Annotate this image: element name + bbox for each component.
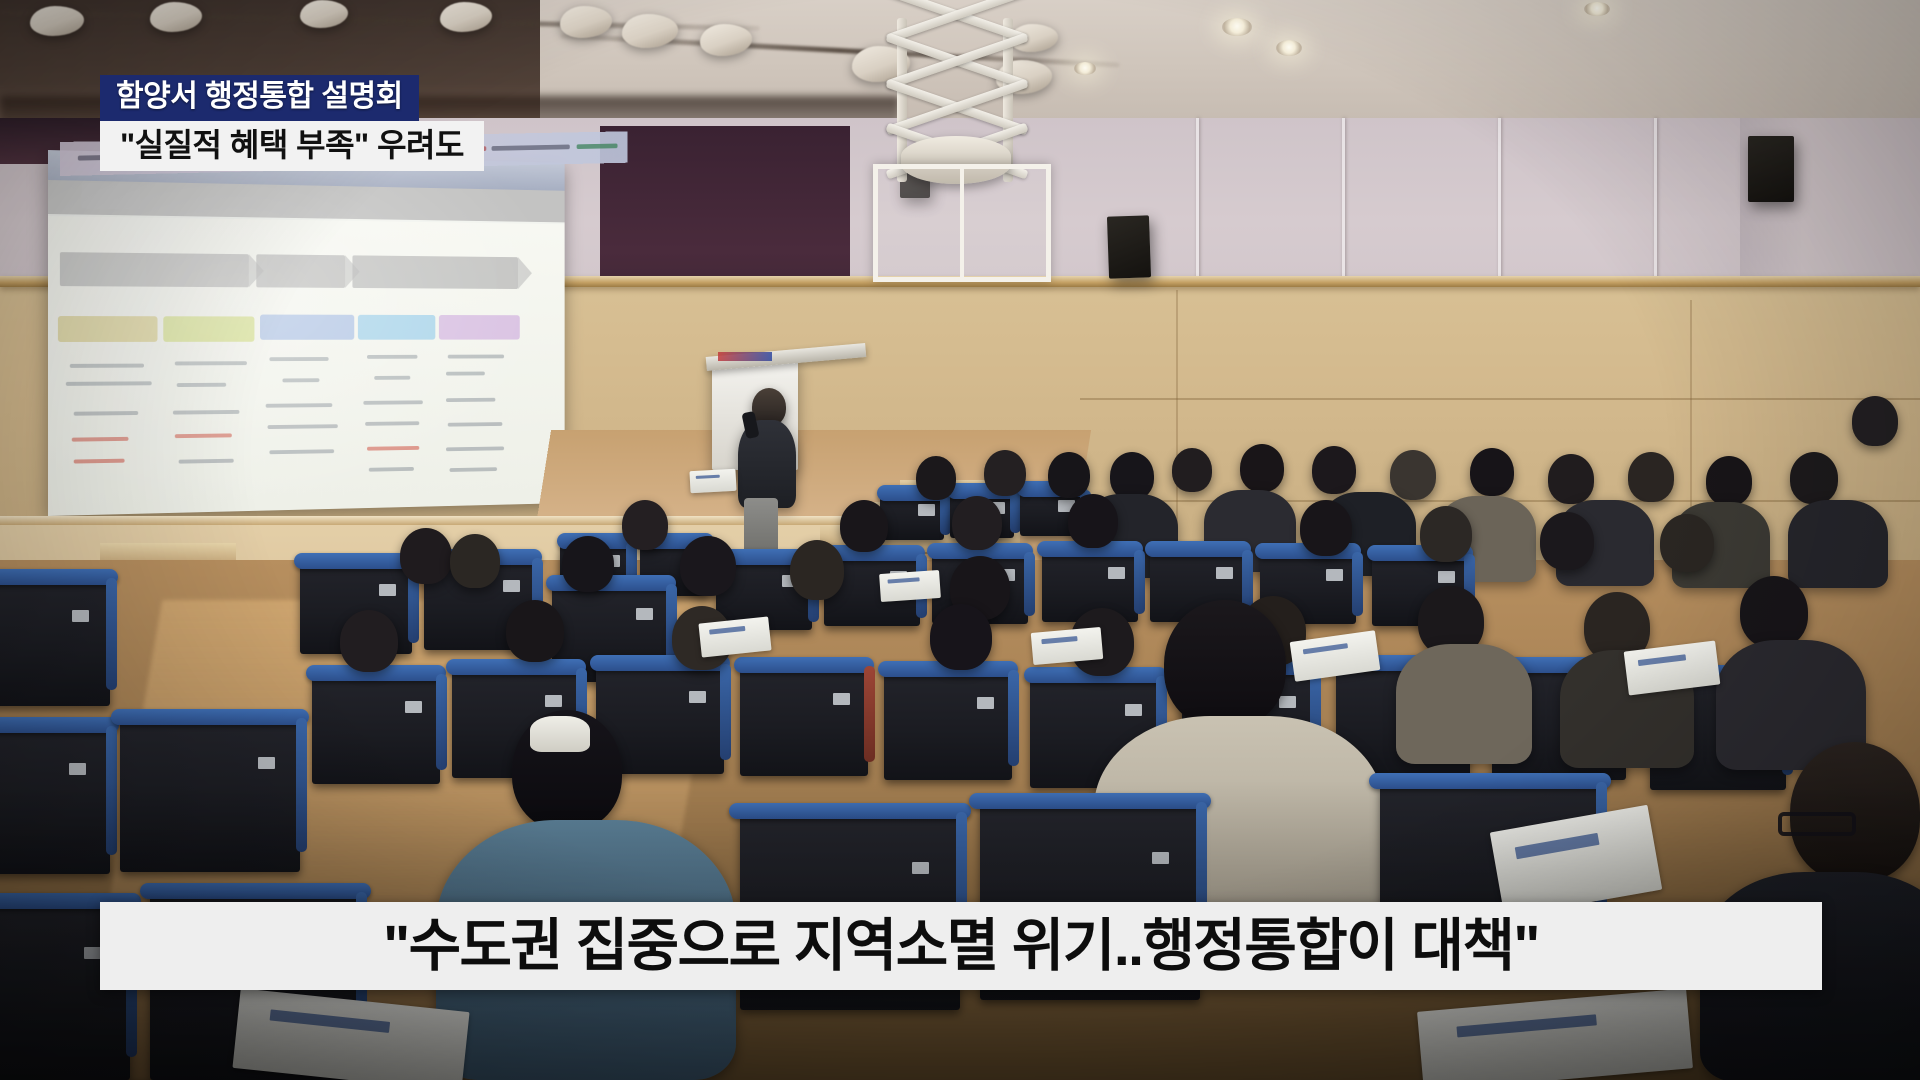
handout [689,469,736,493]
handout [698,616,771,657]
attendee-head [1660,514,1714,572]
attendee-head [506,600,564,662]
attendee-body [1396,644,1532,764]
attendee-head [1110,452,1154,500]
news-bug-headline: 함양서 행정통합 설명회 [100,75,419,121]
attendee-head [984,450,1026,496]
seat [0,576,110,706]
seat [312,672,440,784]
attendee-head [622,500,668,550]
attendee-head [1068,494,1118,548]
attendee-head [1740,576,1808,648]
attendee-head [1312,446,1356,494]
lower-third-text: "수도권 집중으로 지역소멸 위기..행정통합이 대책" [383,918,1539,975]
handout [1031,627,1104,665]
attendee-head [1390,450,1436,500]
seat [0,724,110,874]
attendee-head [450,534,500,588]
attendee-head [790,540,844,600]
attendee-head [1790,452,1838,504]
attendee-head [340,610,398,672]
attendee-head [680,536,736,596]
attendee-head [930,604,992,670]
hair-clip [530,716,590,752]
news-bug-subline: "실질적 혜택 부족" 우려도 [100,121,484,171]
attendee-head [1852,396,1898,446]
seat [740,664,868,776]
attendee-head [1240,444,1284,492]
attendee-body [1788,500,1888,588]
attendee-head [400,528,452,584]
attendee-head [916,456,956,500]
attendee-head [1628,452,1674,502]
attendee-head [952,496,1002,550]
attendee-head [1172,448,1212,492]
top-news-bug: 함양서 행정통합 설명회 "실질적 혜택 부족" 우려도 [100,75,484,171]
attendee-head [1540,512,1594,570]
seat [884,668,1012,780]
attendee-head [1706,456,1752,506]
eyeglasses [1778,812,1856,836]
attendee-head [1548,454,1594,504]
lower-third-caption: "수도권 집중으로 지역소멸 위기..행정통합이 대책" [100,902,1822,990]
broadcast-frame: 함양서 행정통합 설명회 "실질적 혜택 부족" 우려도 "수도권 집중으로 지… [0,0,1920,1080]
handout [232,988,469,1080]
attendee-head [1420,506,1472,562]
attendee-head [1164,600,1286,728]
attendee-head [840,500,888,552]
seat [120,716,300,872]
attendee-head [1470,448,1514,496]
attendee-head [562,536,614,592]
handout [879,570,941,602]
attendee-head [1048,452,1090,498]
handout [1417,988,1693,1080]
attendee-head [1300,500,1352,556]
